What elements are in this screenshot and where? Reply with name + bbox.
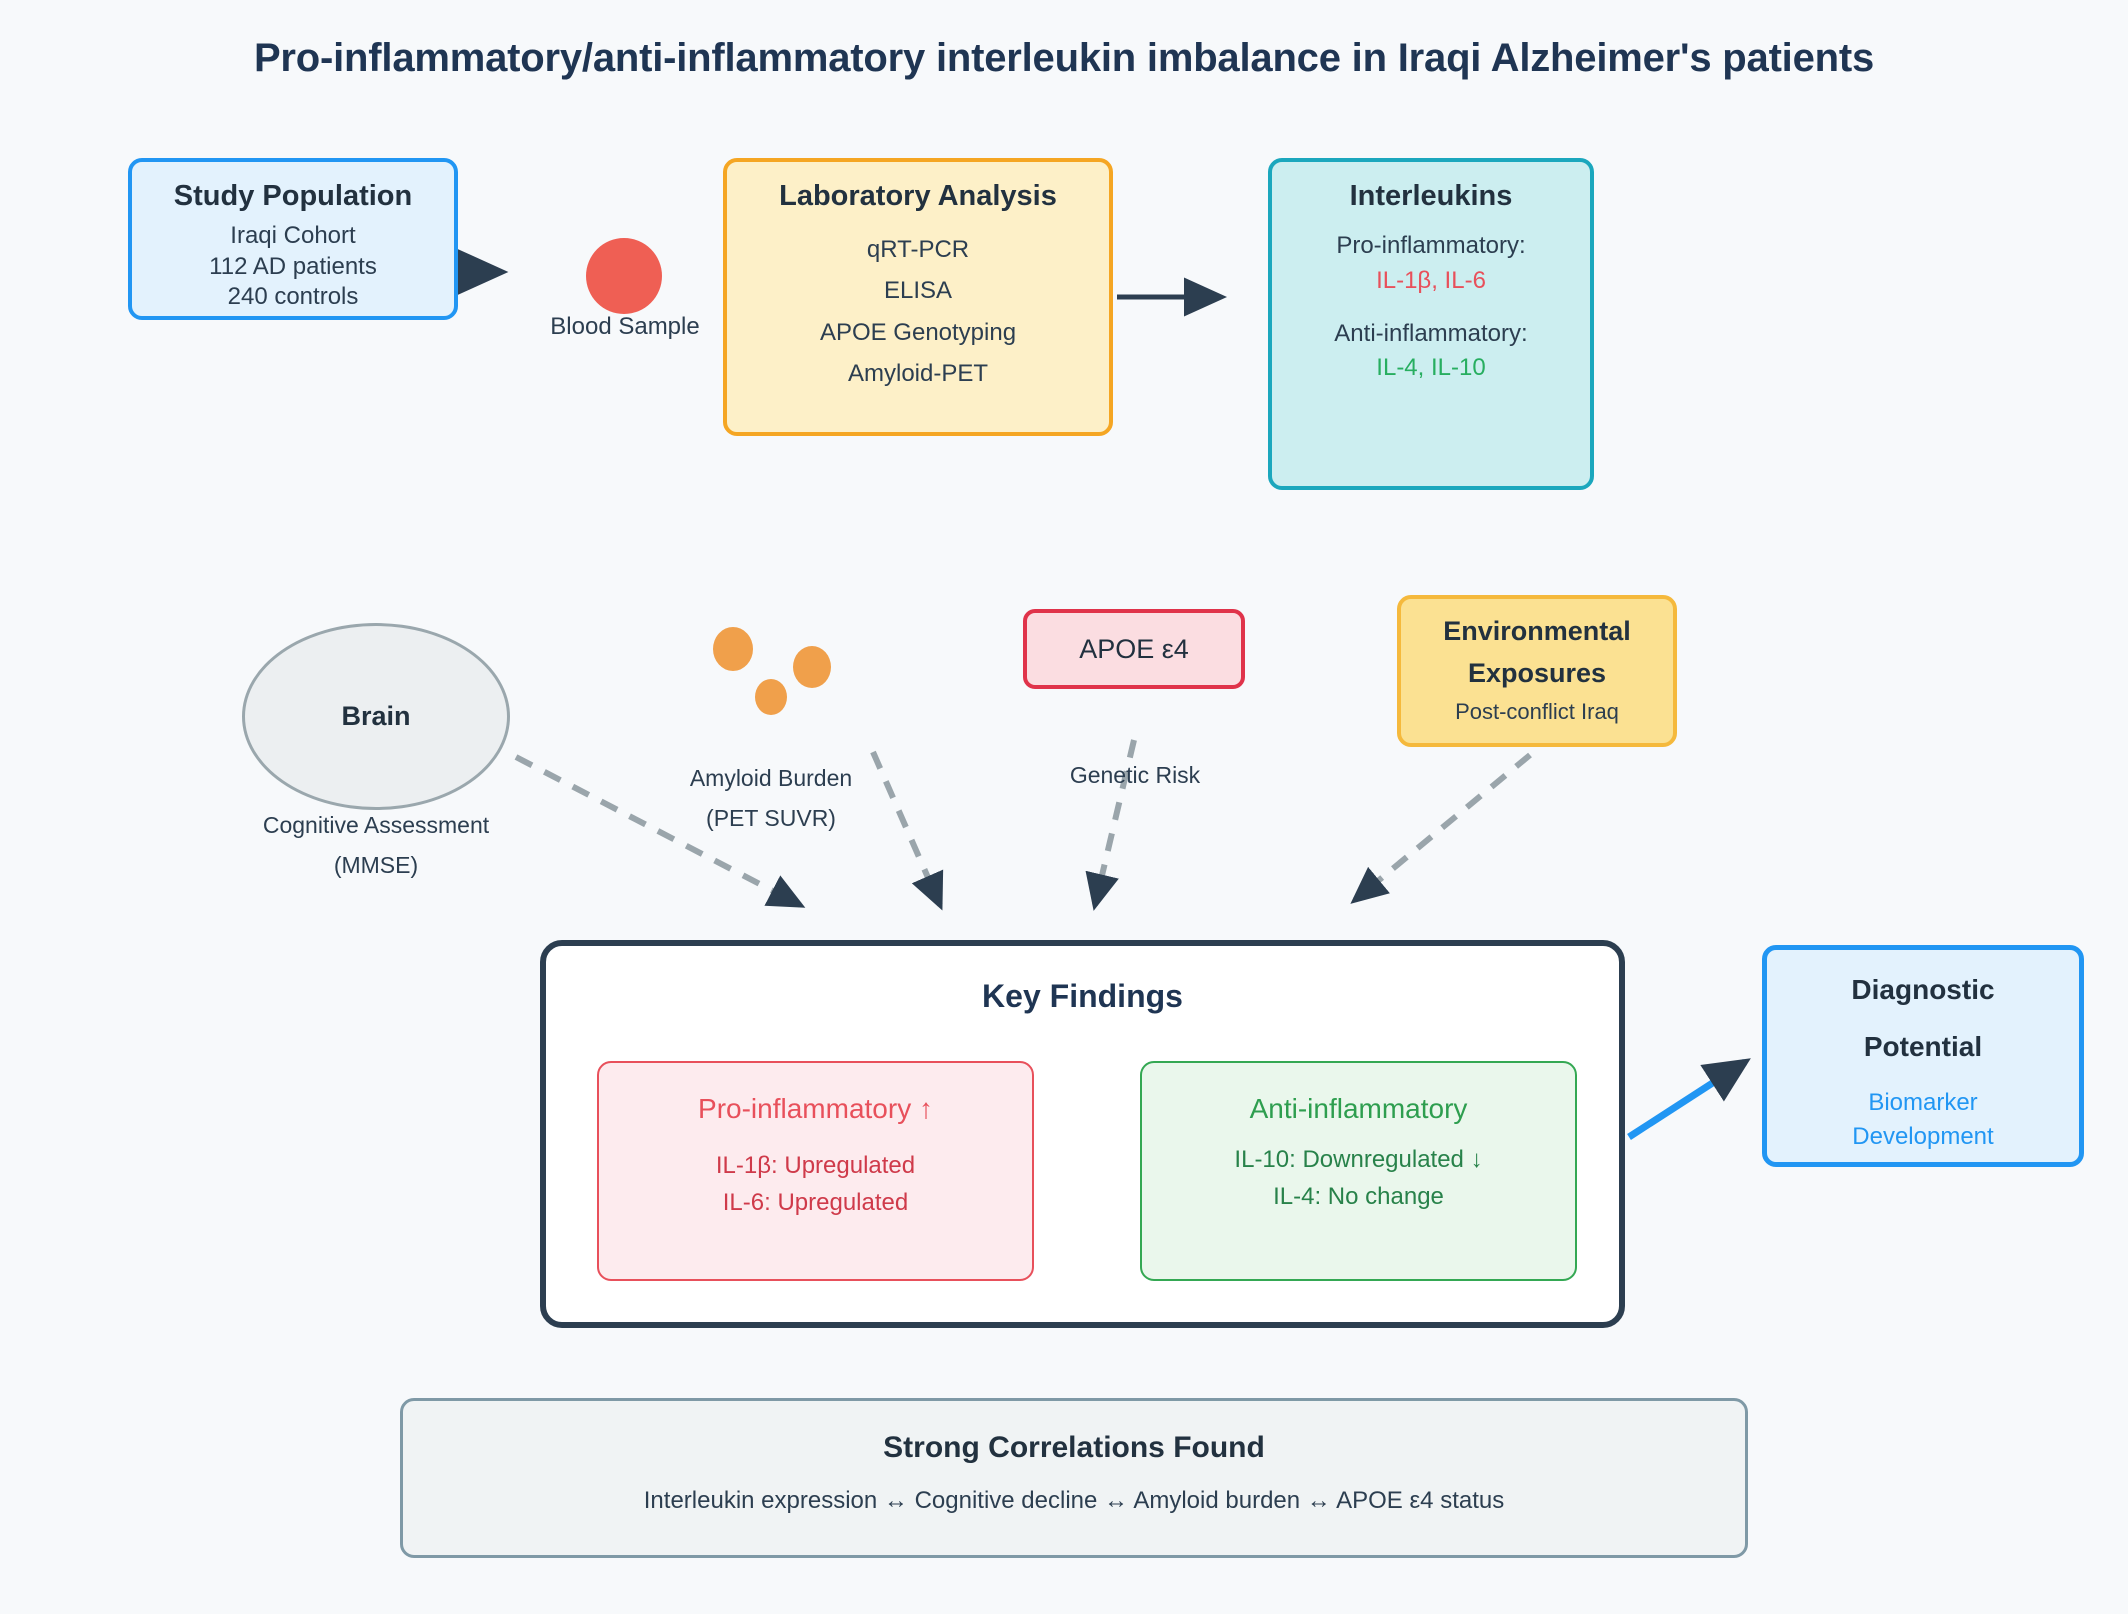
blood-sample-label: Blood Sample (520, 313, 730, 341)
blood-sample-icon (586, 238, 662, 314)
interleukins-pro-label: Pro-inflammatory: (1336, 229, 1525, 264)
lab-method-elisa: ELISA (884, 270, 952, 311)
arrow-findings-to-diagnostic (1629, 1062, 1745, 1137)
environmental-exposures-box[interactable]: Environmental Exposures Post-conflict Ir… (1397, 595, 1677, 747)
apoe-e4-label: APOE ε4 (1079, 634, 1189, 665)
finding-anti-header: Anti-inflammatory (1142, 1093, 1575, 1125)
amyloid-plaque-icon (755, 679, 787, 715)
finding-pro-line-2: IL-6: Upregulated (599, 1184, 1032, 1221)
lab-method-apoe-genotyping: APOE Genotyping (820, 312, 1016, 353)
diagnostic-header-line-2: Potential (1864, 1029, 1982, 1064)
brain-label: Brain (341, 701, 410, 732)
laboratory-analysis-box[interactable]: Laboratory Analysis qRT-PCR ELISA APOE G… (723, 158, 1113, 436)
amyloid-caption-line-2: (PET SUVR) (646, 798, 896, 838)
page-title: Pro-inflammatory/anti-inflammatory inter… (0, 36, 2128, 81)
environmental-header-line-2: Exposures (1468, 657, 1606, 691)
lab-method-amyloid-pet: Amyloid-PET (848, 353, 988, 394)
key-findings-panel[interactable]: Key Findings Pro-inflammatory ↑ IL-1β: U… (540, 940, 1625, 1328)
interleukins-anti-label: Anti-inflammatory: (1334, 317, 1527, 352)
key-findings-title: Key Findings (546, 978, 1619, 1015)
interleukins-pro-values: IL-1β, IL-6 (1376, 264, 1486, 299)
brain-caption-line-2: (MMSE) (196, 845, 556, 885)
brain-caption-line-1: Cognitive Assessment (196, 805, 556, 845)
study-population-box[interactable]: Study Population Iraqi Cohort 112 AD pat… (128, 158, 458, 320)
correlations-detail: Interleukin expression ↔ Cognitive decli… (644, 1487, 1504, 1515)
diagnostic-sub-line-1: Biomarker (1868, 1086, 1977, 1120)
correlations-header: Strong Correlations Found (883, 1431, 1265, 1465)
finding-card-pro-inflammatory[interactable]: Pro-inflammatory ↑ IL-1β: Upregulated IL… (597, 1061, 1034, 1281)
diagnostic-sub-line-2: Development (1852, 1120, 1993, 1154)
study-population-line-3: 240 controls (228, 282, 359, 313)
amyloid-plaque-icon (713, 627, 753, 671)
environmental-subtitle: Post-conflict Iraq (1455, 699, 1619, 725)
amyloid-caption-line-1: Amyloid Burden (646, 758, 896, 798)
diagram-canvas: Pro-inflammatory/anti-inflammatory inter… (0, 0, 2128, 1614)
amyloid-plaque-icon (793, 646, 831, 688)
finding-pro-line-1: IL-1β: Upregulated (599, 1147, 1032, 1184)
finding-card-anti-inflammatory[interactable]: Anti-inflammatory IL-10: Downregulated ↓… (1140, 1061, 1577, 1281)
lab-method-qrt-pcr: qRT-PCR (867, 229, 969, 270)
arrow-environmental-to-findings (1355, 755, 1530, 900)
interleukins-anti-values: IL-4, IL-10 (1376, 351, 1485, 386)
laboratory-analysis-header: Laboratory Analysis (779, 180, 1057, 213)
diagnostic-header-line-1: Diagnostic (1851, 972, 1994, 1007)
finding-pro-header: Pro-inflammatory ↑ (599, 1093, 1032, 1125)
environmental-header-line-1: Environmental (1443, 615, 1631, 649)
brain-caption: Cognitive Assessment (MMSE) (196, 805, 556, 886)
apoe-e4-box[interactable]: APOE ε4 (1023, 609, 1245, 689)
study-population-line-1: Iraqi Cohort (230, 221, 355, 252)
diagnostic-potential-box[interactable]: Diagnostic Potential Biomarker Developme… (1762, 945, 2084, 1167)
correlations-box[interactable]: Strong Correlations Found Interleukin ex… (400, 1398, 1748, 1558)
finding-anti-line-1: IL-10: Downregulated ↓ (1142, 1141, 1575, 1178)
study-population-line-2: 112 AD patients (209, 252, 377, 283)
amyloid-burden-caption: Amyloid Burden (PET SUVR) (646, 758, 896, 839)
brain-ellipse[interactable]: Brain (242, 623, 510, 810)
interleukins-box[interactable]: Interleukins Pro-inflammatory: IL-1β, IL… (1268, 158, 1594, 490)
finding-anti-line-2: IL-4: No change (1142, 1178, 1575, 1215)
study-population-header: Study Population (174, 180, 412, 213)
genetic-risk-caption: Genetic Risk (1010, 762, 1260, 789)
interleukins-header: Interleukins (1350, 180, 1513, 213)
